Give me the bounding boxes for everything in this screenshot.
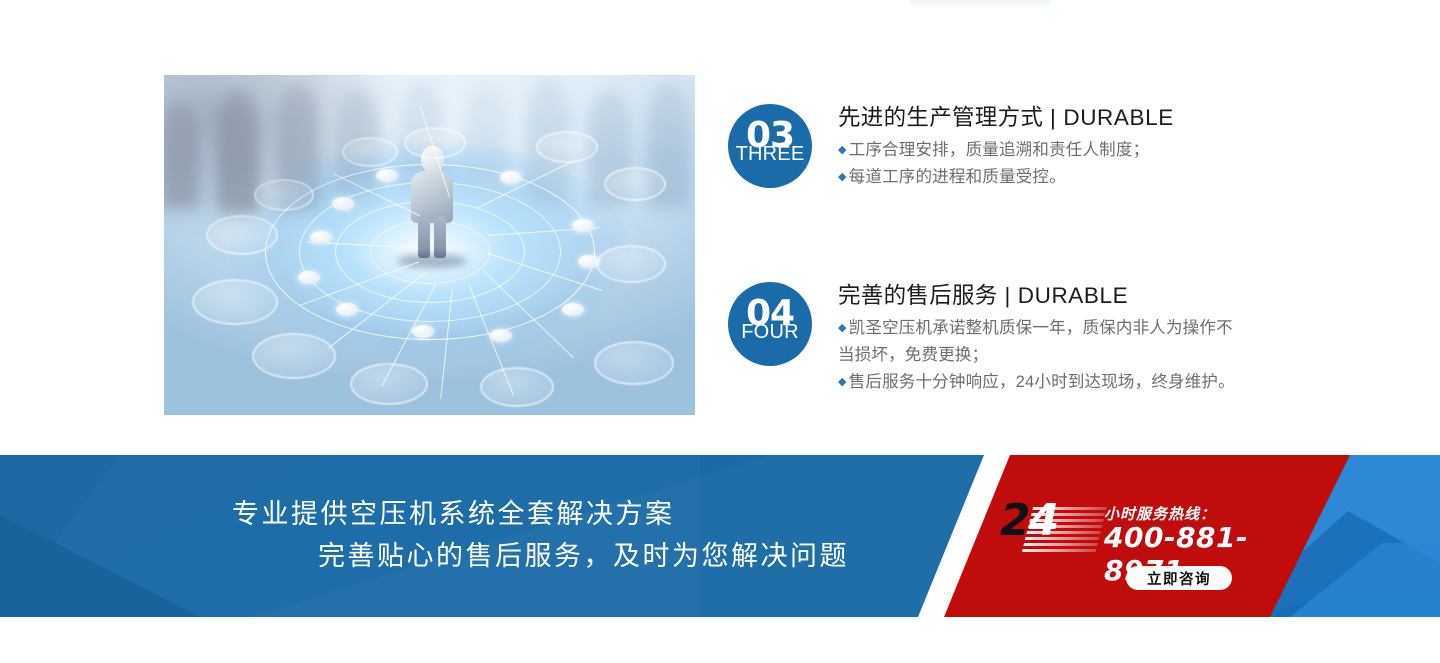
badge-word: FOUR bbox=[728, 322, 812, 342]
hotline-block: 24 小时服务热线： 400-881-8971 bbox=[1000, 501, 1260, 571]
feature-bullet-text: 每道工序的进程和质量受控。 bbox=[849, 168, 1066, 186]
feature-badge-04: 04 FOUR bbox=[728, 282, 812, 366]
feature-badge-03: 03 THREE bbox=[728, 104, 812, 188]
feature-title-separator: | bbox=[998, 283, 1018, 308]
feature-bullet-text: 工序合理安排，质量追溯和责任人制度； bbox=[849, 141, 1150, 159]
bullet-diamond-icon: ◆ bbox=[838, 322, 847, 334]
feature-item-04: 04 FOUR 完善的售后服务 | DURABLE ◆凯圣空压机承诺整机质保一年… bbox=[728, 282, 1246, 395]
feature-title: 完善的售后服务 | DURABLE bbox=[838, 282, 1246, 310]
feature-bullet-text: 凯圣空压机承诺整机质保一年，质保内非人为操作不当损坏，免费更换； bbox=[838, 319, 1233, 364]
feature-bullet-text: 售后服务十分钟响应，24小时到达现场，终身维护。 bbox=[849, 373, 1235, 391]
feature-title-en: DURABLE bbox=[1063, 105, 1173, 130]
features-section: 03 THREE 先进的生产管理方式 | DURABLE ◆工序合理安排，质量追… bbox=[0, 0, 1440, 455]
bullet-diamond-icon: ◆ bbox=[838, 144, 847, 156]
feature-item-03: 03 THREE 先进的生产管理方式 | DURABLE ◆工序合理安排，质量追… bbox=[728, 104, 1174, 191]
bottom-cta-banner: 专业提供空压机系统全套解决方案 完善贴心的售后服务，及时为您解决问题 24 小时… bbox=[0, 455, 1440, 617]
feature-bullet: ◆售后服务十分钟响应，24小时到达现场，终身维护。 bbox=[838, 369, 1246, 396]
banner-slogan-line-2: 完善贴心的售后服务，及时为您解决问题 bbox=[232, 536, 940, 578]
feature-title: 先进的生产管理方式 | DURABLE bbox=[838, 104, 1174, 132]
network-illustration bbox=[164, 75, 695, 415]
speed-lines-icon bbox=[1021, 507, 1107, 555]
badge-word: THREE bbox=[728, 144, 812, 164]
bullet-diamond-icon: ◆ bbox=[838, 171, 847, 183]
feature-title-en: DURABLE bbox=[1018, 283, 1128, 308]
consult-now-button[interactable]: 立即咨询 bbox=[1126, 566, 1232, 590]
banner-slogan: 专业提供空压机系统全套解决方案 完善贴心的售后服务，及时为您解决问题 bbox=[0, 455, 940, 617]
feature-title-cn: 完善的售后服务 bbox=[838, 283, 998, 308]
feature-bullet: ◆工序合理安排，质量追溯和责任人制度； bbox=[838, 137, 1174, 164]
banner-slogan-line-1: 专业提供空压机系统全套解决方案 bbox=[232, 494, 940, 536]
feature-bullet: ◆凯圣空压机承诺整机质保一年，质保内非人为操作不当损坏，免费更换； bbox=[838, 315, 1246, 368]
feature-title-cn: 先进的生产管理方式 bbox=[838, 105, 1043, 130]
feature-title-separator: | bbox=[1043, 105, 1063, 130]
feature-bullet: ◆每道工序的进程和质量受控。 bbox=[838, 164, 1174, 191]
bullet-diamond-icon: ◆ bbox=[838, 376, 847, 388]
